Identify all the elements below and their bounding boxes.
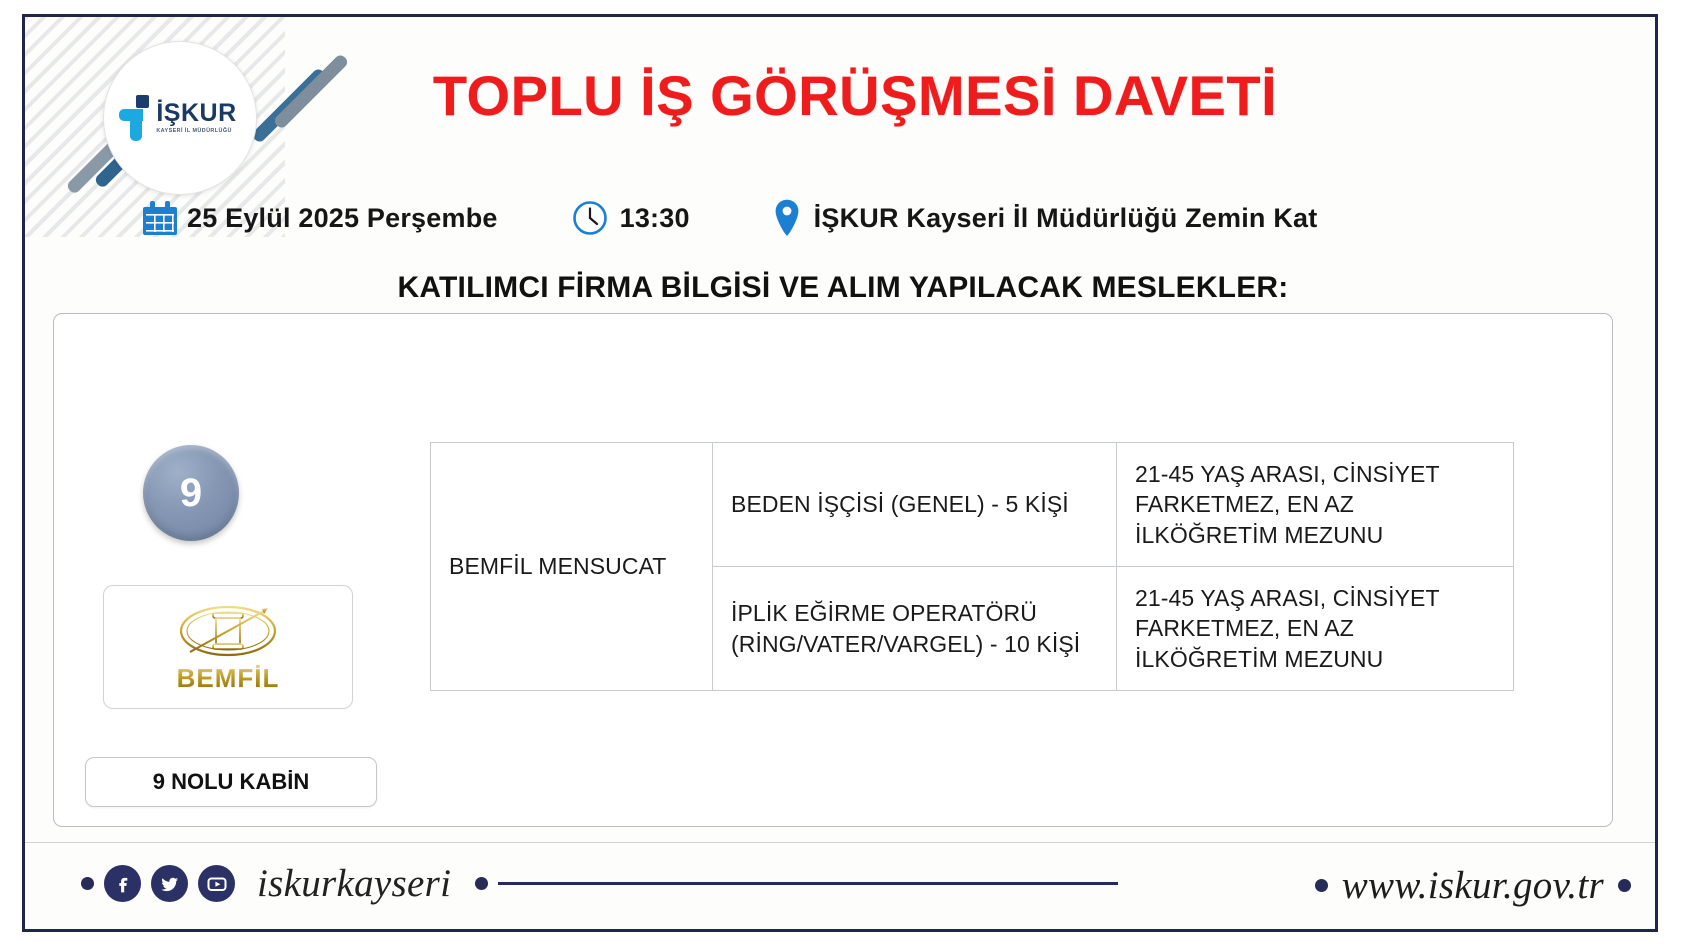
event-date: 25 Eylül 2025 Perşembe — [143, 201, 498, 235]
company-logo-box: BEMFİL — [103, 585, 353, 709]
event-time: 13:30 — [572, 200, 690, 236]
calendar-icon — [143, 201, 177, 235]
footer-dot — [1618, 879, 1631, 892]
spool-and-needle-icon — [168, 600, 288, 662]
table-row: BEMFİL MENSUCAT BEDEN İŞÇİSİ (GENEL) - 5… — [431, 443, 1514, 567]
website-url: www.iskur.gov.tr — [1342, 863, 1604, 908]
footer-dot — [81, 877, 94, 890]
page-title: TOPLU İŞ GÖRÜŞMESİ DAVETİ — [355, 63, 1355, 128]
job-cell: BEDEN İŞÇİSİ (GENEL) - 5 KİŞİ — [713, 443, 1117, 567]
poster: İŞKUR KAYSERİ İL MÜDÜRLÜĞÜ TOPLU İŞ GÖRÜ… — [22, 14, 1658, 932]
requirements-cell: 21-45 YAŞ ARASI, CİNSİYET FARKETMEZ, EN … — [1117, 443, 1514, 567]
event-location-text: İŞKUR Kayseri İl Müdürlüğü Zemin Kat — [814, 203, 1318, 234]
footer-rule — [498, 882, 1118, 885]
iskur-mark-icon — [119, 95, 153, 141]
logo-name: İŞKUR — [156, 101, 236, 126]
booth-label: 9 NOLU KABİN — [85, 757, 377, 807]
footer-social-group: iskurkayseri — [81, 861, 1118, 906]
location-pin-icon — [774, 199, 800, 237]
firm-name-cell: BEMFİL MENSUCAT — [431, 443, 713, 691]
clock-icon — [572, 200, 608, 236]
booth-number-badge: 9 — [143, 445, 239, 541]
requirements-cell: 21-45 YAŞ ARASI, CİNSİYET FARKETMEZ, EN … — [1117, 567, 1514, 691]
jobs-table: BEMFİL MENSUCAT BEDEN İŞÇİSİ (GENEL) - 5… — [430, 442, 1514, 691]
iskur-logo: İŞKUR KAYSERİ İL MÜDÜRLÜĞÜ — [103, 41, 257, 195]
job-cell: İPLİK EĞİRME OPERATÖRÜ (RİNG/VATER/VARGE… — [713, 567, 1117, 691]
social-handle: iskurkayseri — [257, 861, 451, 906]
event-date-text: 25 Eylül 2025 Perşembe — [187, 203, 498, 234]
twitter-icon[interactable] — [151, 865, 188, 902]
footer-dot — [1315, 879, 1328, 892]
event-time-text: 13:30 — [620, 203, 690, 234]
event-location: İŞKUR Kayseri İl Müdürlüğü Zemin Kat — [774, 199, 1318, 237]
youtube-icon[interactable] — [198, 865, 235, 902]
event-info-row: 25 Eylül 2025 Perşembe 13:30 İŞKUR Kayse… — [143, 195, 1543, 241]
logo-subtitle: KAYSERİ İL MÜDÜRLÜĞÜ — [156, 129, 236, 134]
footer: iskurkayseri www.iskur.gov.tr — [25, 842, 1658, 929]
facebook-icon[interactable] — [104, 865, 141, 902]
footer-website-group: www.iskur.gov.tr — [1315, 863, 1631, 908]
section-heading: KATILIMCI FİRMA BİLGİSİ VE ALIM YAPILACA… — [25, 271, 1658, 305]
footer-dot — [475, 877, 488, 890]
decorative-bar — [272, 53, 349, 130]
company-logo-text: BEMFİL — [177, 663, 280, 694]
